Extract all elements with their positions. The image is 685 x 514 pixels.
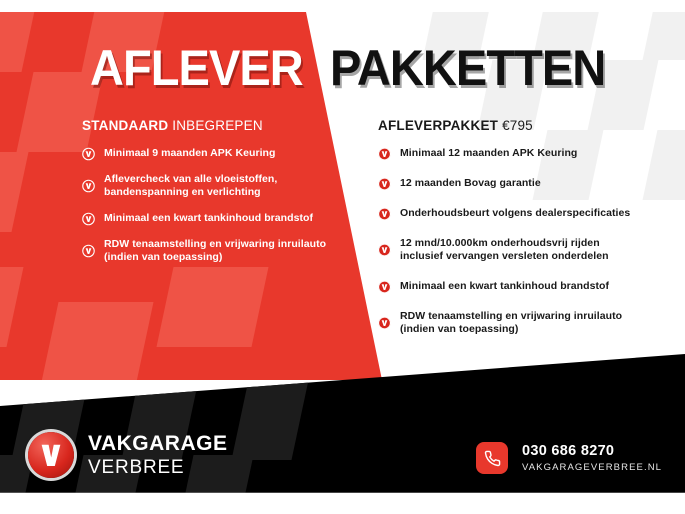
list-item: Minimaal 12 maanden APK Keuring [378,147,638,160]
standard-title-light: INBEGREPEN [172,118,263,133]
standard-package-title: STANDAARD INBEGREPEN [82,118,332,133]
brand-location: VERBREE [88,458,227,477]
list-item-label: Minimaal een kwart tankinhoud brandstof [400,280,609,292]
list-item-label: Aflevercheck van alle vloeistoffen, band… [104,173,277,198]
brand-name: VAKGARAGE [88,433,227,454]
list-item: Minimaal een kwart tankinhoud brandstof [82,212,332,225]
list-item: 12 maanden Bovag garantie [378,177,638,190]
list-item: Aflevercheck van alle vloeistoffen, band… [82,173,332,199]
list-item-label: 12 maanden Bovag garantie [400,177,541,189]
afleverpakket-title-strong: AFLEVERPAKKET [378,118,498,133]
list-item: Minimaal 9 maanden APK Keuring [82,147,332,160]
contact-info[interactable]: 030 686 8270 VAKGARAGEVERBREE.NL [476,442,662,474]
promo-poster: AFLEVER PAKKETTEN STANDAARD INBEGREPEN M… [0,0,685,514]
list-item-label: 12 mnd/10.000km onderhoudsvrij rijden in… [400,237,609,262]
contact-text: 030 686 8270 VAKGARAGEVERBREE.NL [522,444,662,473]
vakgarage-v-check-icon [82,180,95,193]
list-item-label: RDW tenaamstelling en vrijwaring inruila… [104,238,326,263]
afleverpakket-price: €795 [502,118,533,133]
vakgarage-v-check-icon [378,177,391,190]
vakgarage-v-check-icon [378,317,391,330]
bottom-white-strip [0,493,685,514]
afleverpakket-title: AFLEVERPAKKET €795 [378,118,638,133]
top-white-strip [0,0,685,12]
list-item: 12 mnd/10.000km onderhoudsvrij rijden in… [378,237,638,263]
list-item-label: Onderhoudsbeurt volgens dealerspecificat… [400,207,630,219]
list-item-label: Minimaal een kwart tankinhoud brandstof [104,212,313,224]
standard-feature-list: Minimaal 9 maanden APK Keuring Afleverch… [82,147,332,264]
vakgarage-v-check-icon [378,207,391,220]
vakgarage-v-check-icon [82,212,95,225]
afleverpakket-column: AFLEVERPAKKET €795 Minimaal 12 maanden A… [378,118,638,353]
list-item-label: Minimaal 9 maanden APK Keuring [104,147,275,159]
vakgarage-v-check-icon [378,244,391,257]
phone-icon[interactable] [476,442,508,474]
vakgarage-v-check-icon [82,245,95,258]
list-item: RDW tenaamstelling en vrijwaring inruila… [82,238,332,264]
list-item: Minimaal een kwart tankinhoud brandstof [378,280,638,293]
afleverpakket-feature-list: Minimaal 12 maanden APK Keuring 12 maand… [378,147,638,336]
standard-package-column: STANDAARD INBEGREPEN Minimaal 9 maanden … [82,118,332,277]
list-item-label: Minimaal 12 maanden APK Keuring [400,147,577,159]
list-item-label: RDW tenaamstelling en vrijwaring inruila… [400,310,622,335]
vakgarage-v-check-icon [82,147,95,160]
brand-logo: VAKGARAGE VERBREE [28,432,227,478]
vakgarage-v-badge-icon [28,432,74,478]
brand-logo-text: VAKGARAGE VERBREE [88,433,227,477]
phone-number[interactable]: 030 686 8270 [522,444,662,459]
website-url[interactable]: VAKGARAGEVERBREE.NL [522,463,662,473]
standard-title-strong: STANDAARD [82,118,168,133]
vakgarage-v-check-icon [378,147,391,160]
list-item: Onderhoudsbeurt volgens dealerspecificat… [378,207,638,220]
list-item: RDW tenaamstelling en vrijwaring inruila… [378,310,638,336]
vakgarage-v-check-icon [378,280,391,293]
